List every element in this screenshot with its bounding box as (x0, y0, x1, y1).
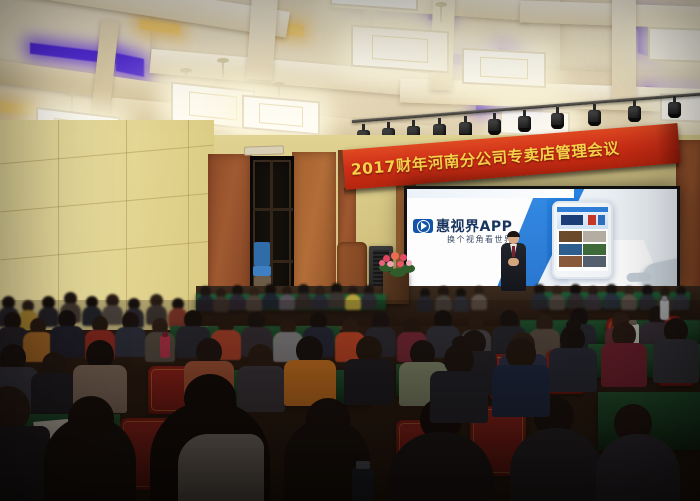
conference-hall-photo: 2017财年河南分公司专卖店管理会议 惠视界APP 换个视角看世界 (0, 0, 700, 501)
water-bottle (160, 336, 170, 358)
square-pendant-light-panel (648, 27, 700, 63)
projection-screen: 惠视界APP 换个视角看世界 (407, 189, 677, 287)
projection-screen-frame: 惠视界APP 换个视角看世界 (404, 186, 680, 290)
square-pendant-light-panel (351, 25, 449, 74)
air-vent (244, 145, 284, 155)
coat-on-chairback (178, 434, 264, 501)
tablet-hero-banner (557, 212, 608, 229)
presenter-on-stage (500, 232, 526, 298)
tablet-thumbnail-grid (557, 229, 608, 269)
hui-shi-jie-logo-icon (413, 219, 433, 233)
tablet-screen (557, 207, 608, 271)
stacked-boxes (253, 266, 271, 276)
warm-cove-light (0, 102, 40, 117)
water-bottle (660, 300, 669, 320)
square-pendant-light-panel (462, 48, 546, 88)
square-pendant-light-panel (242, 95, 320, 136)
tablet-mockup (552, 201, 613, 279)
banner-fold (655, 123, 680, 165)
floral-arrangement (377, 251, 417, 277)
water-bottle (352, 468, 374, 501)
stacked-boxes (254, 242, 270, 266)
slide-top-stripe (407, 189, 574, 198)
